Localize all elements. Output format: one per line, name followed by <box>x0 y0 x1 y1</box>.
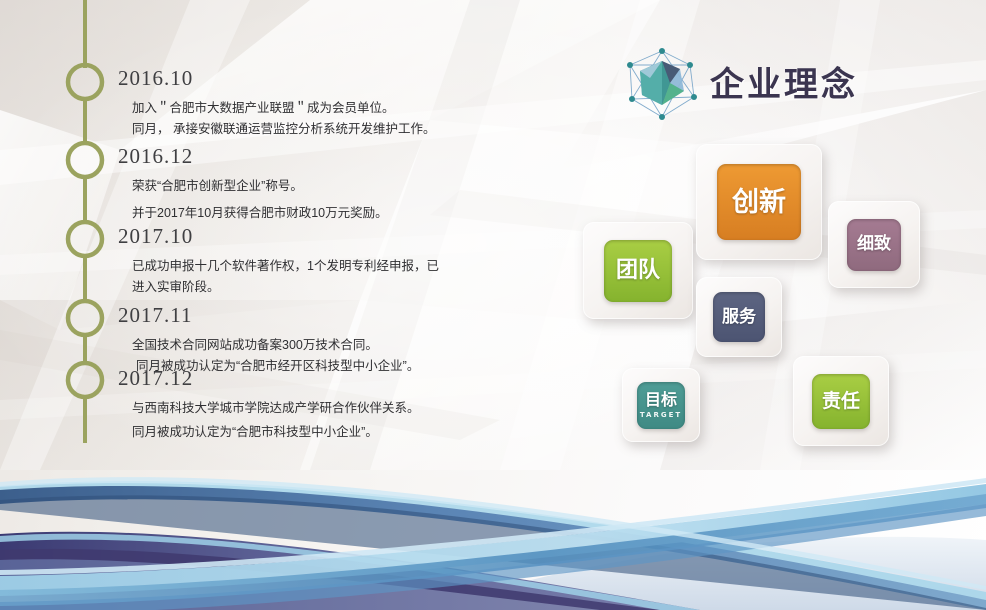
timeline-year: 2017.11 <box>118 305 419 326</box>
value-label: 责任 <box>822 392 860 411</box>
timeline-body: 与西南科技大学城市学院达成产学研合作伙伴关系。 同月被成功认定为“合肥市科技型中… <box>118 398 420 443</box>
value-card-target[interactable]: 目标 TARGET <box>622 368 700 442</box>
value-label: 细致 <box>857 236 891 253</box>
value-card-team[interactable]: 团队 <box>583 222 693 319</box>
timeline-body: 荣获“合肥市创新型企业”称号。 并于2017年10月获得合肥市财政10万元奖励。 <box>118 176 388 224</box>
value-label: 团队 <box>616 260 660 282</box>
timeline: 2016.10 加入＂合肥市大数据产业联盟＂成为会员单位。 同月， 承接安徽联通… <box>0 0 480 470</box>
timeline-year: 2017.10 <box>118 226 450 247</box>
timeline-line: 荣获“合肥市创新型企业”称号。 <box>132 176 388 197</box>
value-card-service[interactable]: 服务 <box>696 277 782 357</box>
timeline-line: 并于2017年10月获得合肥市财政10万元奖励。 <box>132 203 388 224</box>
poster-page: 2016.10 加入＂合肥市大数据产业联盟＂成为会员单位。 同月， 承接安徽联通… <box>0 0 986 610</box>
timeline-line: 同月， 承接安徽联通运营监控分析系统开发维护工作。 <box>132 119 435 140</box>
value-chip: 服务 <box>713 292 765 342</box>
timeline-marker <box>68 301 102 335</box>
timeline-body: 已成功申报十几个软件著作权，1个发明专利经申报，已进入实审阶段。 <box>118 256 450 298</box>
section-header: 企业理念 <box>622 45 942 125</box>
value-card-innovation[interactable]: 创新 <box>696 144 822 260</box>
timeline-marker <box>68 222 102 256</box>
value-chip: 细致 <box>847 219 901 271</box>
value-label: 目标 <box>645 392 677 408</box>
page-title: 企业理念 <box>710 57 858 106</box>
value-chip: 责任 <box>812 374 870 429</box>
timeline-body: 加入＂合肥市大数据产业联盟＂成为会员单位。 同月， 承接安徽联通运营监控分析系统… <box>118 98 435 140</box>
value-card-responsibility[interactable]: 责任 <box>793 356 889 446</box>
timeline-marker <box>68 363 102 397</box>
timeline-entry-2016-12: 2016.12 荣获“合肥市创新型企业”称号。 并于2017年10月获得合肥市财… <box>118 146 388 224</box>
timeline-marker <box>68 143 102 177</box>
timeline-line: 已成功申报十几个软件著作权，1个发明专利经申报，已进入实审阶段。 <box>132 256 450 298</box>
timeline-line: 加入＂合肥市大数据产业联盟＂成为会员单位。 <box>132 98 435 119</box>
timeline-line: 与西南科技大学城市学院达成产学研合作伙伴关系。 <box>132 398 420 419</box>
timeline-entry-2017-12: 2017.12 与西南科技大学城市学院达成产学研合作伙伴关系。 同月被成功认定为… <box>118 368 420 443</box>
timeline-marker <box>68 65 102 99</box>
value-chip: 团队 <box>604 240 672 302</box>
value-chip: 目标 TARGET <box>637 382 685 429</box>
value-card-meticulous[interactable]: 细致 <box>828 201 920 288</box>
timeline-entry-2016-10: 2016.10 加入＂合肥市大数据产业联盟＂成为会员单位。 同月， 承接安徽联通… <box>118 68 435 140</box>
timeline-entry-2017-10: 2017.10 已成功申报十几个软件著作权，1个发明专利经申报，已进入实审阶段。 <box>118 226 450 298</box>
value-label: 创新 <box>732 189 786 216</box>
polygon-gem-network-logo <box>622 45 702 125</box>
timeline-line: 全国技术合同网站成功备案300万技术合同。 <box>132 335 419 356</box>
timeline-year: 2016.12 <box>118 146 388 167</box>
timeline-year: 2017.12 <box>118 368 420 389</box>
value-label: 服务 <box>722 309 756 326</box>
value-sublabel: TARGET <box>640 412 682 419</box>
wave-decoration <box>0 450 986 610</box>
timeline-line: 同月被成功认定为“合肥市科技型中小企业”。 <box>132 422 420 443</box>
timeline-year: 2016.10 <box>118 68 435 89</box>
value-chip: 创新 <box>717 164 801 240</box>
